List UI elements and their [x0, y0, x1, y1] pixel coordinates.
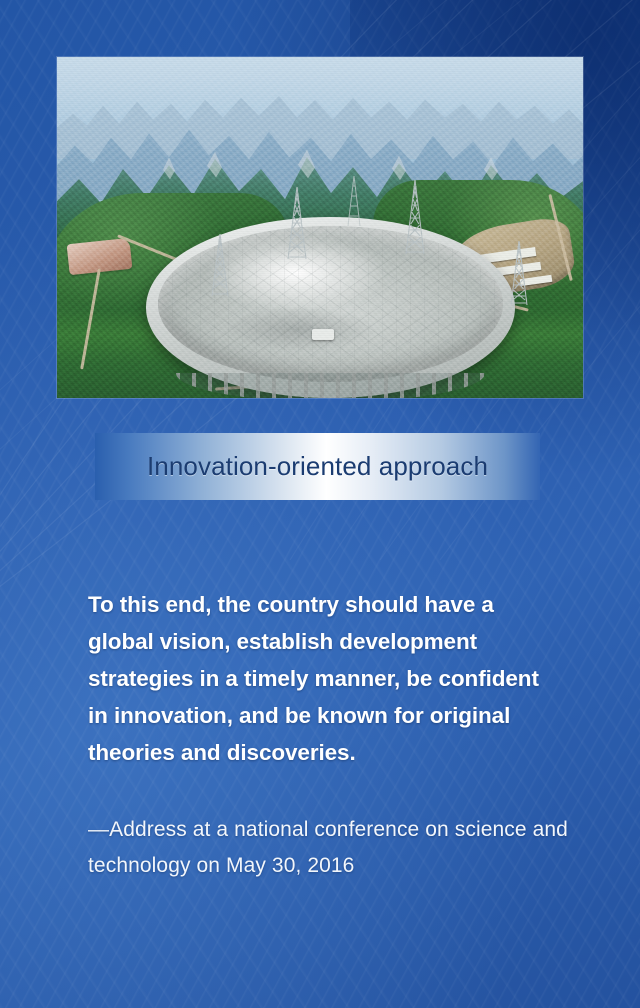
photo-forest-texture: [57, 57, 583, 398]
quote-text: To this end, the country should have a g…: [88, 586, 558, 771]
section-title-band: Innovation-oriented approach: [95, 433, 540, 500]
hero-photo: [57, 57, 583, 398]
page-title: Innovation-oriented approach: [147, 451, 488, 482]
quote-attribution: —Address at a national conference on sci…: [88, 812, 568, 884]
photo-content: [57, 57, 583, 398]
slide-canvas: Innovation-oriented approach To this end…: [0, 0, 640, 1008]
